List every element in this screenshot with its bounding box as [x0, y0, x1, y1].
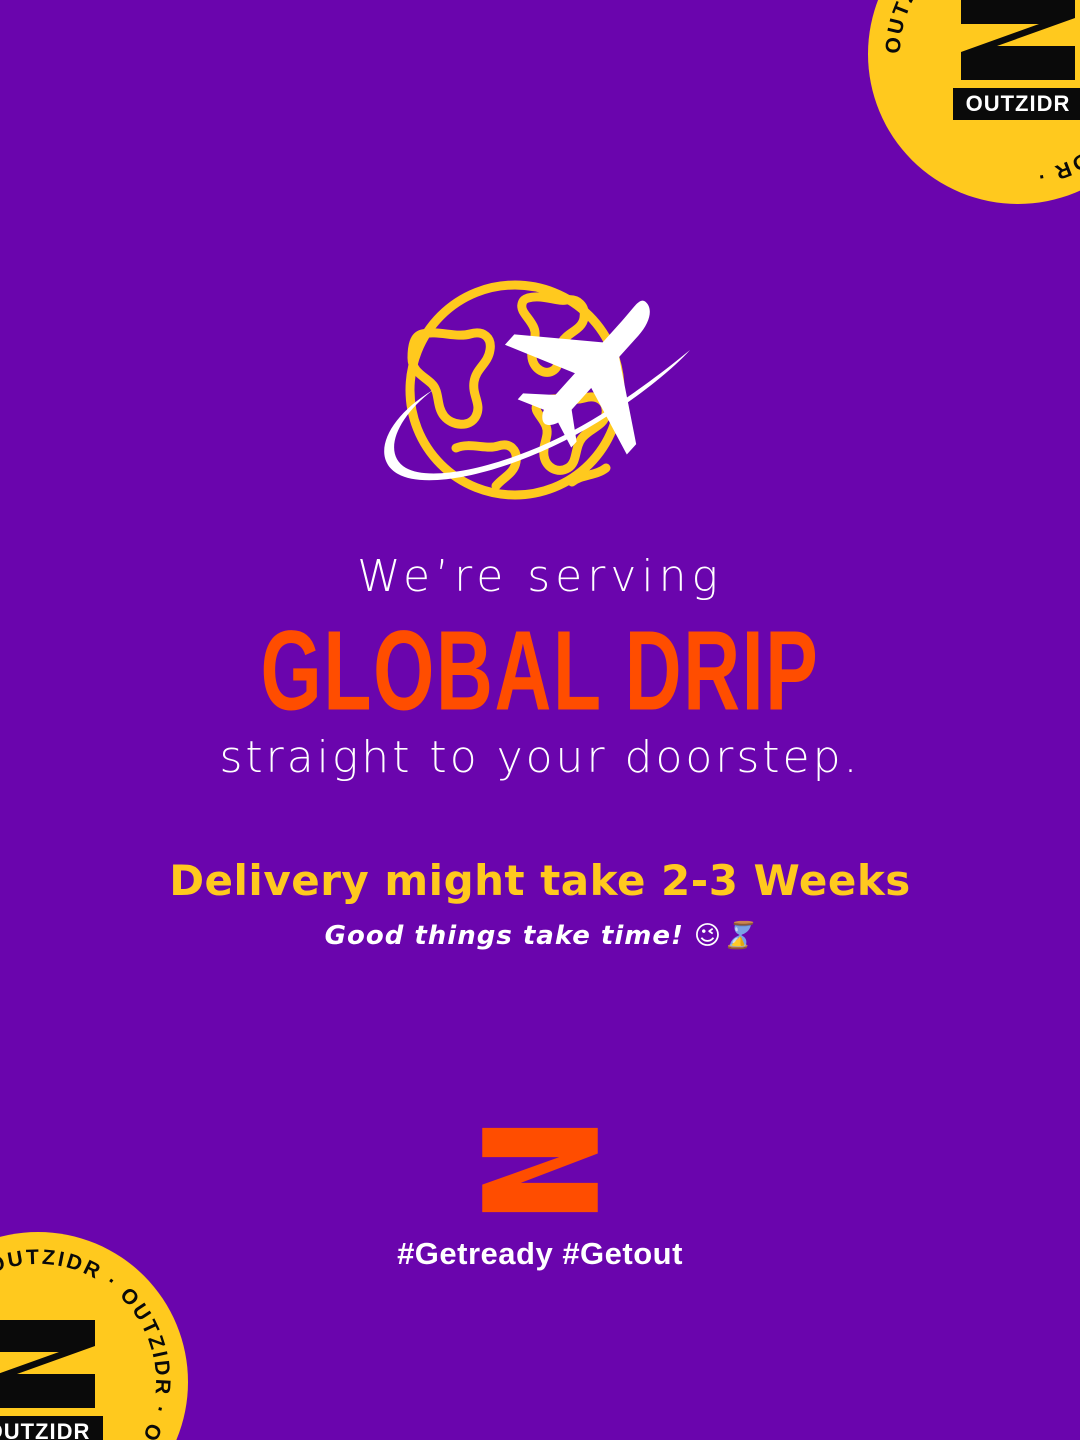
badge-core-bottom-left: OUTZIDR: [0, 1316, 103, 1440]
badge-wordmark-top-right: OUTZIDR: [953, 88, 1080, 120]
promo-poster: OUTZIDR · OUTZIDR · OUTZIDR · OUTZIDR · …: [0, 0, 1080, 1440]
outzidr-badge-top-right: OUTZIDR · OUTZIDR · OUTZIDR · OUTZIDR · …: [868, 0, 1080, 204]
delivery-estimate-text: Delivery might take 2-3 Weeks: [0, 857, 1080, 905]
globe-airplane-icon: [360, 272, 720, 512]
outzidr-z-icon: [0, 1316, 103, 1412]
hashtag-tagline: #Getready #Getout: [397, 1236, 683, 1272]
kicker-line: We’re serving: [0, 552, 1080, 603]
reassurance-text: Good things take time! 😉⌛: [0, 921, 1080, 952]
page-title: GLOBAL DRIP: [97, 615, 983, 728]
footer-lockup: #Getready #Getout: [0, 1126, 1080, 1272]
globe-airplane-illustration: [360, 272, 720, 512]
badge-core-top-right: OUTZIDR: [953, 0, 1080, 120]
outzidr-z-logo-icon: [479, 1126, 601, 1214]
poster-copy-block: We’re serving GLOBAL DRIP straight to yo…: [0, 552, 1080, 953]
outzidr-z-icon: [953, 0, 1080, 84]
badge-wordmark-bottom-left: OUTZIDR: [0, 1416, 103, 1440]
subheadline-line: straight to your doorstep.: [0, 733, 1080, 784]
